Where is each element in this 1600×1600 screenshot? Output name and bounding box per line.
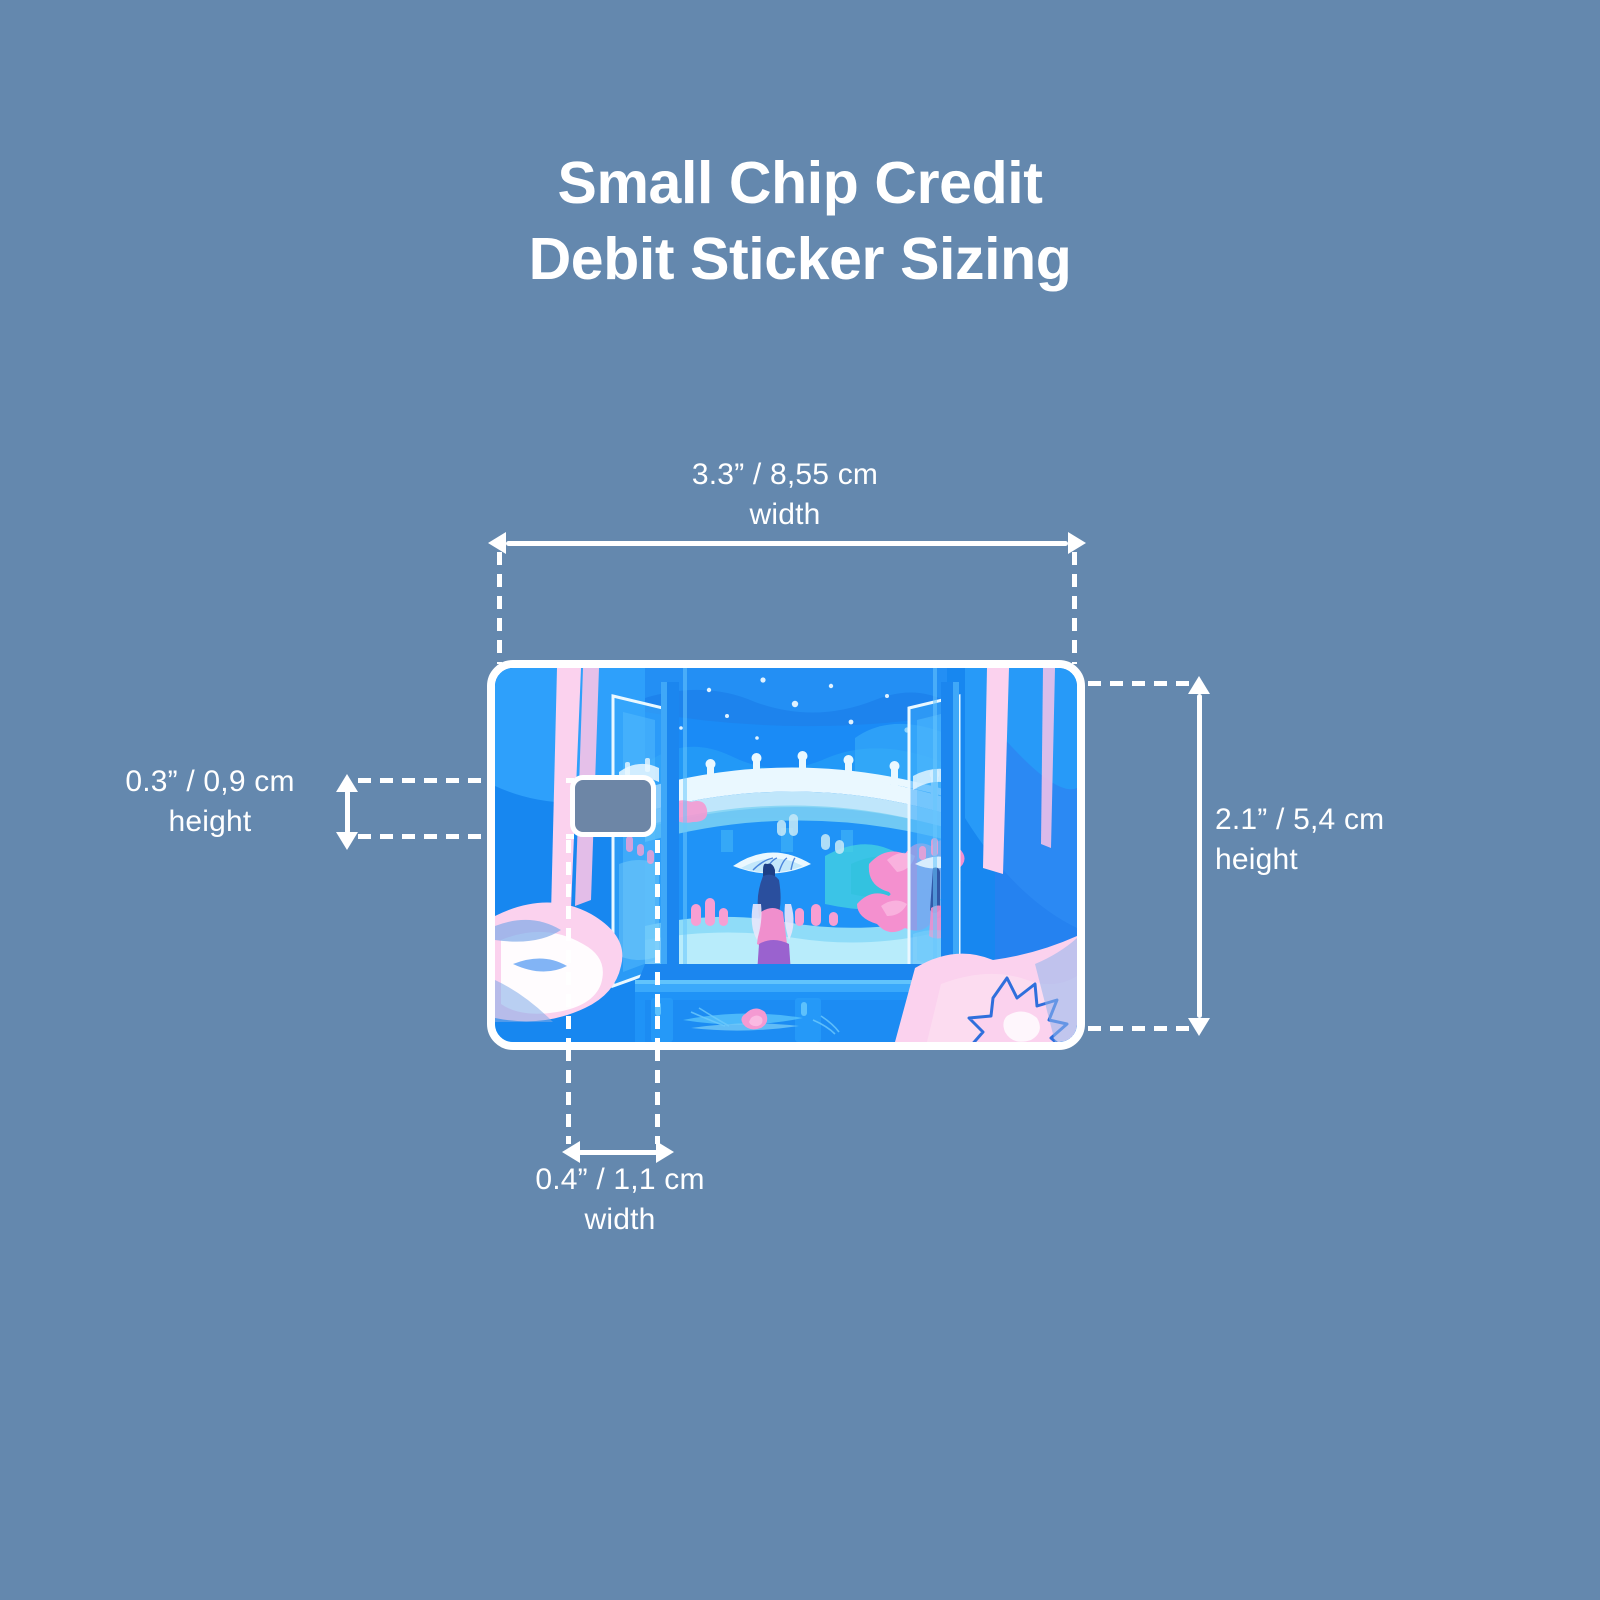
chip-height-extension-bottom-over-card [566, 834, 574, 839]
card-width-arrow-left-icon [488, 532, 506, 554]
card-artwork [495, 668, 1077, 1042]
card-height-label: 2.1” / 5,4 cm height [1215, 800, 1535, 880]
card-height-extension-bottom [1088, 1026, 1192, 1031]
chip-height-arrow-up-icon [336, 774, 358, 792]
credit-card-sticker[interactable] [487, 660, 1085, 1050]
card-width-arrow-right-icon [1068, 532, 1086, 554]
chip-height-arrow-down-icon [336, 832, 358, 850]
card-width-arrow-line [506, 541, 1068, 546]
chip-width-extension-right-over-card [655, 840, 660, 1050]
chip-width-extension-left-over-card [566, 840, 571, 1050]
chip-height-label: 0.3” / 0,9 cm height [80, 762, 340, 842]
chip-width-extension-left [566, 1048, 571, 1144]
chip-width-label: 0.4” / 1,1 cm width [420, 1160, 820, 1240]
card-height-extension-top [1088, 681, 1192, 686]
chip-height-arrow-line [345, 790, 350, 834]
card-height-arrow-line [1197, 694, 1202, 1018]
chip-cutout [570, 775, 656, 837]
chip-width-arrow-line [578, 1150, 658, 1155]
card-width-label: 3.3” / 8,55 cm width [485, 455, 1085, 535]
chip-width-extension-right [655, 1048, 660, 1144]
card-width-extension-left [497, 552, 502, 664]
page-title: Small Chip Credit Debit Sticker Sizing [0, 145, 1600, 297]
chip-width-arrow-right-icon [656, 1141, 674, 1163]
chip-width-arrow-left-icon [562, 1141, 580, 1163]
chip-height-extension-top-over-card [566, 778, 574, 783]
poster-canvas: Small Chip Credit Debit Sticker Sizing 3… [0, 0, 1600, 1600]
card-width-extension-right [1072, 552, 1077, 664]
